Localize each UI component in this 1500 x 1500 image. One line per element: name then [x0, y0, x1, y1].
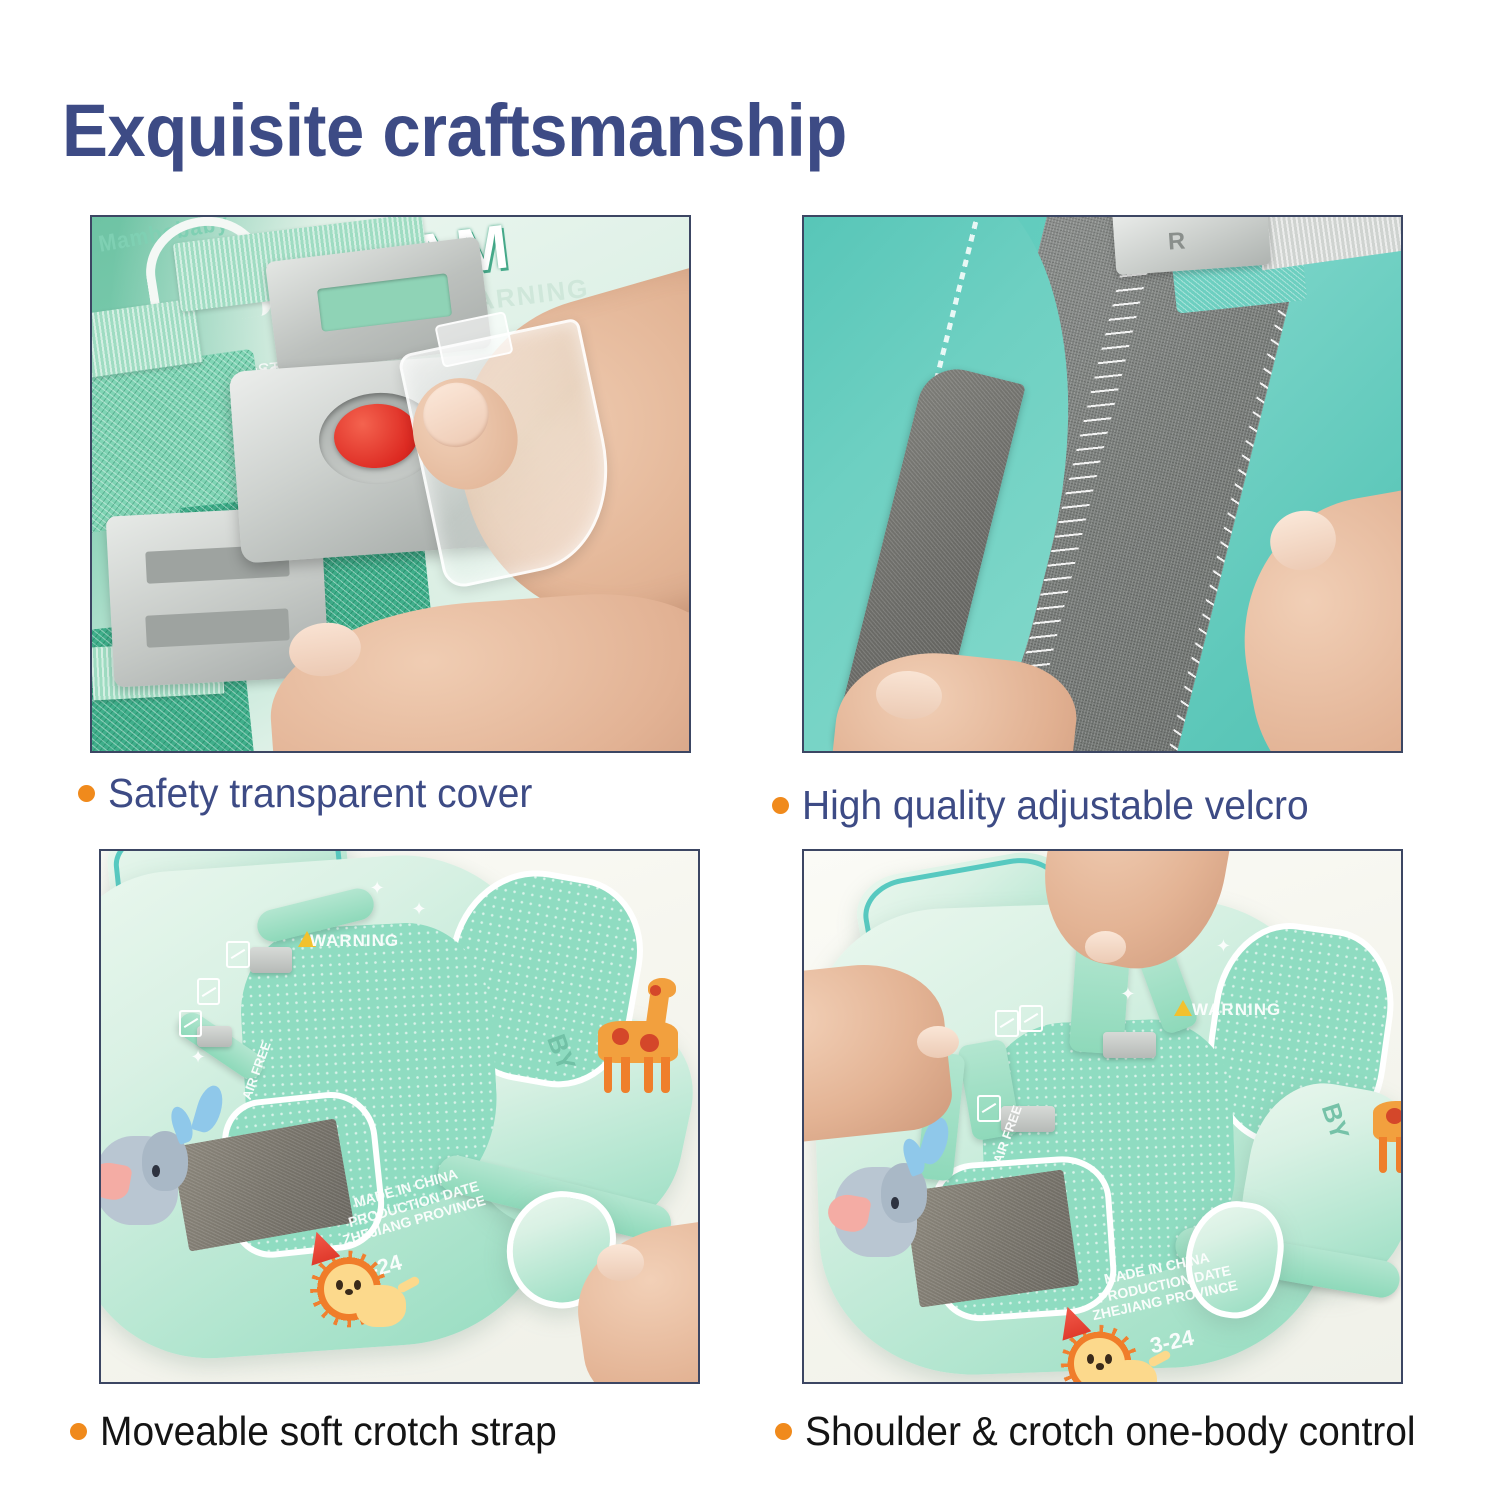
no-bleach-icon	[197, 978, 221, 1005]
photo-safety-cover: AM WARNING Mambobaby 24 MONTHS ASTM Q/MA…	[90, 215, 691, 753]
caption-safety-cover: Safety transparent cover	[78, 770, 555, 817]
no-iron-icon	[179, 1010, 203, 1037]
panel-one-body-control: WARNING MADE IN CHINA PRODUCTION DATE ZH…	[802, 849, 1403, 1384]
lion-cartoon	[1055, 1318, 1145, 1384]
caption-text: Shoulder & crotch one-body control	[805, 1408, 1416, 1455]
caption-text: Moveable soft crotch strap	[100, 1408, 557, 1455]
thumbnail	[597, 1244, 645, 1281]
giraffe-spot	[612, 1028, 629, 1044]
infographic-page: Exquisite craftsmanship AM WARNING Mambo…	[0, 0, 1500, 1500]
photo-one-body-control: WARNING MADE IN CHINA PRODUCTION DATE ZH…	[802, 849, 1403, 1384]
sparkle-icon: ✦	[1216, 936, 1231, 957]
sparkle-icon: ✦	[191, 1047, 206, 1068]
giraffe-spot	[650, 985, 661, 996]
no-wash-icon	[226, 941, 250, 968]
lion-body	[356, 1285, 406, 1327]
elephant-eye	[891, 1197, 899, 1209]
caption-text: Safety transparent cover	[108, 770, 532, 817]
warning-text: WARNING	[1192, 1000, 1281, 1020]
giraffe-cartoon	[591, 1005, 687, 1095]
bullet-icon	[70, 1423, 87, 1440]
thumbnail	[1085, 931, 1127, 963]
elephant-eye	[152, 1165, 160, 1177]
caption-text: High quality adjustable velcro	[802, 782, 1309, 829]
caption-velcro: High quality adjustable velcro	[772, 782, 1335, 829]
sparkle-icon: ✦	[1120, 984, 1135, 1005]
giraffe-leg	[621, 1057, 630, 1093]
elephant-cartoon	[834, 1159, 935, 1265]
sparkle-icon: ✦	[370, 878, 385, 899]
caption-crotch-strap: Moveable soft crotch strap	[70, 1408, 581, 1455]
thumbnail	[917, 1026, 959, 1058]
giraffe-leg	[661, 1057, 670, 1093]
lion-cartoon	[304, 1244, 394, 1334]
buckle-marking-text: R	[1167, 227, 1186, 256]
no-wash-icon	[995, 1010, 1019, 1037]
no-bleach-icon	[1019, 1005, 1043, 1032]
panel-crotch-strap: WARNING MADE IN CHINA PRODUCTION DATE ZH…	[99, 849, 700, 1384]
giraffe-leg	[604, 1057, 613, 1093]
bullet-icon	[775, 1423, 792, 1440]
panel-safety-cover: AM WARNING Mambobaby 24 MONTHS ASTM Q/MA…	[90, 215, 691, 753]
page-title: Exquisite craftsmanship	[62, 88, 847, 173]
bullet-icon	[78, 785, 95, 802]
giraffe-cartoon	[1365, 1085, 1403, 1175]
caption-one-body-control: Shoulder & crotch one-body control	[775, 1408, 1448, 1455]
sparkle-icon: ✦	[411, 899, 426, 920]
giraffe-leg	[1379, 1137, 1388, 1173]
giraffe-leg	[1396, 1137, 1403, 1173]
photo-velcro: R	[802, 215, 1403, 753]
lion-nose	[1096, 1363, 1104, 1369]
warning-triangle-icon	[1174, 1000, 1192, 1016]
giraffe-leg	[644, 1057, 653, 1093]
warning-text: WARNING	[310, 931, 399, 951]
no-iron-icon	[977, 1095, 1001, 1122]
strap-loop	[1103, 1032, 1157, 1059]
strap-loop	[250, 947, 292, 974]
photo-crotch-strap: WARNING MADE IN CHINA PRODUCTION DATE ZH…	[99, 849, 700, 1384]
panel-velcro: R	[802, 215, 1403, 753]
bullet-icon	[772, 797, 789, 814]
